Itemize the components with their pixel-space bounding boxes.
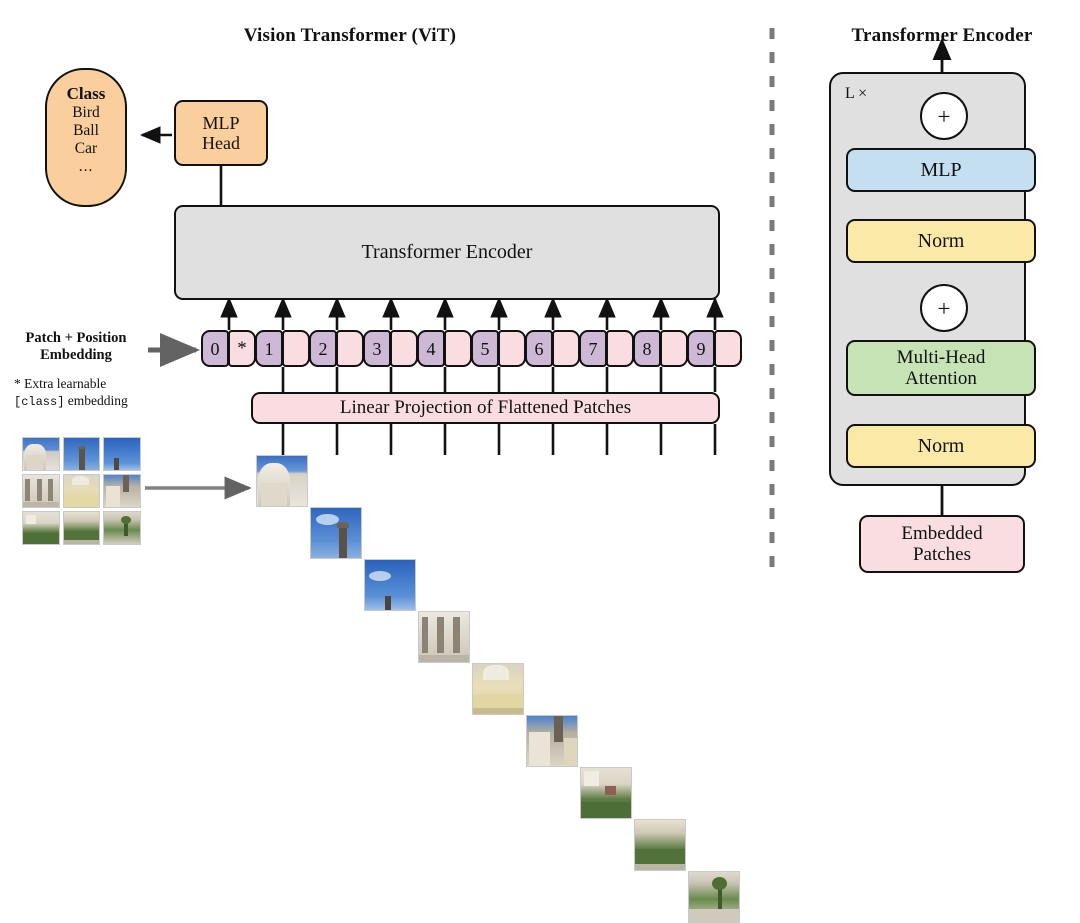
token-8-patch-embedding: [660, 330, 688, 367]
embedded-patches-block: Embedded Patches: [859, 515, 1025, 573]
attention-label-line2: Attention: [905, 368, 977, 389]
source-patch: [103, 474, 141, 508]
plus-symbol: +: [938, 297, 951, 320]
source-patch: [63, 437, 101, 471]
attention-label-line1: Multi-Head: [897, 347, 986, 368]
patch-strip: [256, 455, 308, 923]
mlp-block-label: MLP: [920, 159, 961, 181]
patch-item: [634, 819, 686, 871]
footnote-prefix: * Extra learnable: [14, 376, 174, 393]
embedded-patches-line2: Patches: [913, 544, 971, 565]
norm-top-label: Norm: [918, 230, 965, 252]
transformer-encoder-label: Transformer Encoder: [362, 241, 533, 263]
linear-projection-label: Linear Projection of Flattened Patches: [340, 397, 631, 418]
source-patch: [103, 437, 141, 471]
left-panel-title: Vision Transformer (ViT): [180, 25, 520, 47]
source-image-grid: [22, 437, 141, 545]
token-6-position: 6: [525, 330, 553, 367]
plus-symbol: +: [938, 105, 951, 128]
norm-block-bottom: Norm: [846, 424, 1036, 468]
source-patch: [103, 511, 141, 545]
token-5-patch-embedding: [498, 330, 526, 367]
norm-block-top: Norm: [846, 219, 1036, 263]
residual-add-bottom: +: [920, 284, 968, 332]
patch-item: [688, 871, 740, 923]
token-9-position: 9: [687, 330, 715, 367]
embedded-patches-line1: Embedded: [901, 523, 982, 544]
token-8-position: 8: [633, 330, 661, 367]
token-3-patch-embedding: [390, 330, 418, 367]
source-patch: [22, 437, 60, 471]
patch-item: [256, 455, 308, 507]
token-3-position: 3: [363, 330, 391, 367]
class-item: Bird: [47, 104, 125, 122]
residual-add-top: +: [920, 92, 968, 140]
token-7-patch-embedding: [606, 330, 634, 367]
embedding-label-line1: Patch + Position: [8, 330, 144, 347]
token-0-cls-star: *: [228, 330, 256, 367]
mlp-head-box: MLP Head: [174, 100, 268, 166]
mlp-block: MLP: [846, 148, 1036, 192]
class-output-box: Class Bird Ball Car ...: [45, 68, 127, 207]
class-heading: Class: [47, 84, 125, 104]
norm-bottom-label: Norm: [918, 435, 965, 457]
source-patch: [22, 511, 60, 545]
repeat-count-label: L ×: [845, 85, 867, 103]
token-7-position: 7: [579, 330, 607, 367]
mlp-head-line2: Head: [202, 133, 240, 153]
token-4-patch-embedding: [444, 330, 472, 367]
patch-item: [310, 507, 362, 559]
mlp-head-line1: MLP: [202, 113, 239, 133]
class-item: Ball: [47, 122, 125, 140]
embedding-label-line2: Embedding: [8, 347, 144, 364]
token-5-position: 5: [471, 330, 499, 367]
patch-item: [472, 663, 524, 715]
token-4-position: 4: [417, 330, 445, 367]
footnote-suffix: embedding: [64, 393, 127, 408]
patch-item: [580, 767, 632, 819]
class-item: ...: [47, 158, 125, 176]
footnote-code: [class]: [14, 395, 64, 409]
token-1-position: 1: [255, 330, 283, 367]
token-0-position: 0: [201, 330, 229, 367]
extra-learnable-footnote: * Extra learnable [class] embedding: [14, 376, 174, 410]
patch-item: [418, 611, 470, 663]
source-patch: [22, 474, 60, 508]
linear-projection-box: Linear Projection of Flattened Patches: [251, 392, 720, 424]
multi-head-attention-block: Multi-Head Attention: [846, 340, 1036, 396]
source-patch: [63, 474, 101, 508]
token-9-patch-embedding: [714, 330, 742, 367]
token-1-patch-embedding: [282, 330, 310, 367]
patch-item: [364, 559, 416, 611]
token-6-patch-embedding: [552, 330, 580, 367]
token-2-patch-embedding: [336, 330, 364, 367]
class-item: Car: [47, 140, 125, 158]
right-panel-title: Transformer Encoder: [808, 25, 1076, 47]
source-patch: [63, 511, 101, 545]
patch-item: [526, 715, 578, 767]
patch-position-embedding-label: Patch + Position Embedding: [8, 330, 144, 363]
token-2-position: 2: [309, 330, 337, 367]
transformer-encoder-box: Transformer Encoder: [174, 205, 720, 300]
